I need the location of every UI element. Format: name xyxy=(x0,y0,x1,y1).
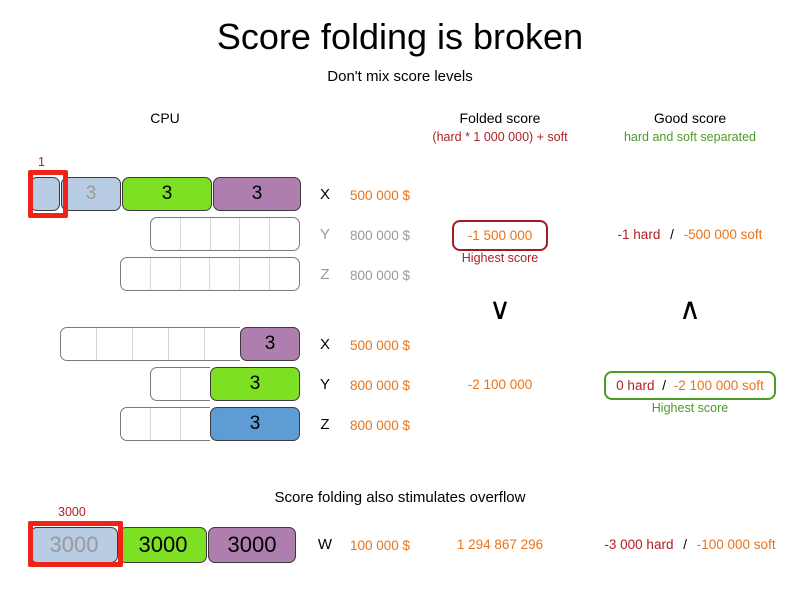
row-letter-g1-z: Z xyxy=(315,266,335,283)
bar-segment: 3 xyxy=(61,177,121,211)
row-letter-g1-x: X xyxy=(315,186,335,203)
good-score-overflow: -3 000 hard / -100 000 soft xyxy=(595,537,785,552)
overflow-label-group1: 1 xyxy=(38,155,45,169)
folded-score-group1-value: -1 500 000 xyxy=(452,220,549,251)
good-score-group2-caption: Highest score xyxy=(595,401,785,415)
bar-group1-row-x: 333 xyxy=(30,177,302,211)
bar-segment xyxy=(30,177,60,211)
bar-empty-slot xyxy=(150,217,300,251)
column-subheader-folded-formula: (hard * 1 000 000) + soft xyxy=(390,130,610,144)
row-letter-g1-y: Y xyxy=(315,226,335,243)
good-score-overflow-slash: / xyxy=(683,537,687,552)
good-score-group1-soft: -500 000 soft xyxy=(684,227,763,242)
folded-score-group1: -1 500 000 xyxy=(390,220,610,251)
column-subheader-good-formula: hard and soft separated xyxy=(595,130,785,144)
folded-score-group2: -2 100 000 xyxy=(390,377,610,392)
row-money-g2-z: 800 000 $ xyxy=(350,418,460,433)
bar-segment: 3 xyxy=(210,367,300,401)
bar-segment: 3 xyxy=(210,407,300,441)
bar-segment: 3000 xyxy=(119,527,207,563)
column-header-folded-score: Folded score xyxy=(390,110,610,126)
overflow-section-heading: Score folding also stimulates overflow xyxy=(180,489,620,506)
row-money-g1-z: 800 000 $ xyxy=(350,268,460,283)
bar-segment: 3 xyxy=(213,177,301,211)
bar-group1-row-y xyxy=(150,217,300,251)
row-letter-g2-x: X xyxy=(315,336,335,353)
overflow-label-bottom: 3000 xyxy=(58,505,86,519)
folded-score-overflow: 1 294 867 296 xyxy=(390,537,610,552)
row-money-g1-x: 500 000 $ xyxy=(350,188,460,203)
comparison-glyph-folded: ∨ xyxy=(390,292,610,327)
bar-overflow-row-w: 300030003000 xyxy=(30,527,297,563)
folded-score-group1-caption: Highest score xyxy=(390,251,610,265)
row-letter-w: W xyxy=(315,536,335,553)
good-score-group2-soft: -2 100 000 soft xyxy=(674,378,764,393)
bar-segment: 3 xyxy=(122,177,212,211)
bar-group2-row-x: 3 xyxy=(60,327,300,361)
bar-group2-row-y: 3 xyxy=(150,367,300,401)
row-letter-g2-z: Z xyxy=(315,416,335,433)
page-title: Score folding is broken xyxy=(0,16,800,58)
good-score-group2: 0 hard / -2 100 000 soft xyxy=(595,371,785,400)
bar-empty-slot xyxy=(120,257,300,291)
bar-segment: 3000 xyxy=(30,527,118,563)
page-subtitle: Don't mix score levels xyxy=(0,68,800,85)
good-score-overflow-hard: -3 000 hard xyxy=(604,537,673,552)
bar-group2-row-z: 3 xyxy=(120,407,300,441)
good-score-group2-hard: 0 hard xyxy=(616,378,654,393)
good-score-group1-slash: / xyxy=(670,227,674,242)
bar-group1-row-z xyxy=(120,257,300,291)
bar-empty-slot xyxy=(60,327,240,361)
bar-segment: 3 xyxy=(240,327,300,361)
bar-empty-slot xyxy=(120,407,210,441)
bar-empty-slot xyxy=(150,367,210,401)
bar-segment: 3000 xyxy=(208,527,296,563)
row-letter-g2-y: Y xyxy=(315,376,335,393)
good-score-group1: -1 hard / -500 000 soft xyxy=(595,227,785,242)
good-score-overflow-soft: -100 000 soft xyxy=(697,537,776,552)
good-score-group1-hard: -1 hard xyxy=(618,227,661,242)
column-header-cpu: CPU xyxy=(100,110,230,126)
comparison-glyph-good: ∧ xyxy=(595,292,785,327)
row-money-g2-x: 500 000 $ xyxy=(350,338,460,353)
good-score-group2-slash: / xyxy=(662,378,666,393)
column-header-good-score: Good score xyxy=(595,110,785,126)
